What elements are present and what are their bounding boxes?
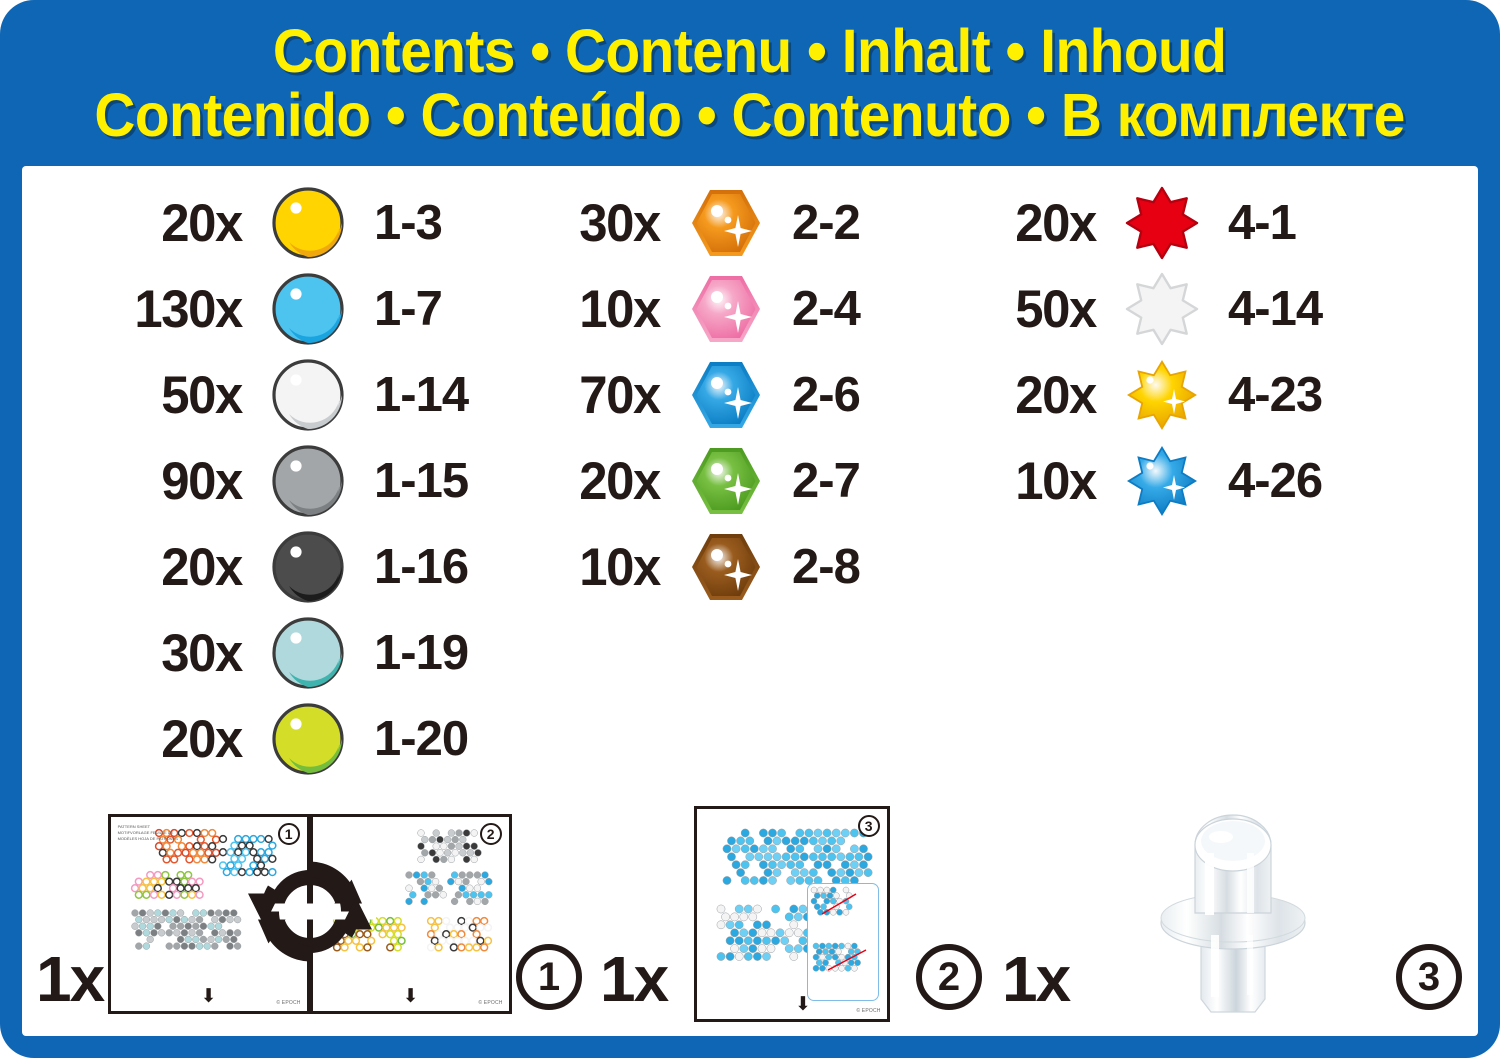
bead-row: 50x 1-14 bbox=[114, 352, 502, 438]
accessory-index-badge: 3 bbox=[1396, 944, 1462, 1010]
accessory-index-badge: 2 bbox=[916, 944, 982, 1010]
pattern-sheet-note: PATTERN SHEET MOTIFVORLAGE FEUILLE DE MO… bbox=[118, 824, 182, 842]
copyright-text: © EPOCH bbox=[478, 1000, 502, 1006]
contents-panel: 20x 1-3130x bbox=[22, 166, 1478, 1036]
accessories-row: 1x PATTERN SHEET MOTIFVORLAGE FEUILLE DE… bbox=[22, 798, 1478, 1030]
bead-code: 2-4 bbox=[768, 281, 860, 337]
accessory-index-badge: 1 bbox=[516, 944, 582, 1010]
bead-code: 1-7 bbox=[350, 281, 442, 337]
bead-row: 20x 2-7 bbox=[532, 438, 952, 524]
bead-quantity: 20x bbox=[117, 537, 263, 598]
bead-quantity: 130x bbox=[117, 279, 263, 340]
hexagon-bead-icon bbox=[684, 525, 768, 609]
bead-code: 2-2 bbox=[768, 195, 860, 251]
accessory-figure: PATTERN SHEET MOTIFVORLAGE FEUILLE DE MO… bbox=[103, 814, 516, 1014]
accessory-figure: 3 ⬇ © EPOCH bbox=[667, 806, 916, 1022]
pattern-sheet-badge-3: 3 bbox=[858, 815, 880, 837]
bead-code: 1-14 bbox=[350, 367, 468, 423]
star-bead-icon bbox=[1120, 267, 1204, 351]
pattern-sheet-badge-2: 2 bbox=[480, 823, 502, 845]
accessory-quantity: 1x bbox=[1002, 942, 1069, 1030]
hexagon-bead-icon bbox=[684, 181, 768, 265]
header-title-line-2: Contenido • Conteúdo • Contenuto • В ком… bbox=[95, 84, 1406, 146]
bead-row: 10x 2-8 bbox=[532, 524, 952, 610]
star-bead-icon bbox=[1120, 439, 1204, 523]
bead-quantity: 70x bbox=[535, 365, 681, 426]
bead-column-star: 20x 4-150x 4-1420x 4-2310x 4-26 bbox=[952, 180, 1452, 782]
circle-bead-icon bbox=[266, 525, 350, 609]
bead-row: 90x 1-15 bbox=[114, 438, 502, 524]
circle-bead-icon bbox=[266, 353, 350, 437]
bead-quantity: 50x bbox=[117, 365, 263, 426]
bead-row: 20x 4-23 bbox=[968, 352, 1452, 438]
bead-quantity: 50x bbox=[971, 279, 1117, 340]
bead-row: 10x 2-4 bbox=[532, 266, 952, 352]
clear-pen-tool-icon bbox=[1143, 807, 1323, 1022]
bead-quantity: 20x bbox=[971, 193, 1117, 254]
bead-code: 4-14 bbox=[1204, 281, 1322, 337]
circle-bead-icon bbox=[266, 611, 350, 695]
down-arrow-icon: ⬇ bbox=[795, 995, 811, 1014]
bead-quantity: 90x bbox=[117, 451, 263, 512]
bead-column-round: 20x 1-3130x bbox=[22, 180, 502, 782]
bead-code: 1-20 bbox=[350, 711, 468, 767]
bead-code: 4-23 bbox=[1204, 367, 1322, 423]
bead-quantity: 10x bbox=[535, 279, 681, 340]
bead-row: 30x 1-19 bbox=[114, 610, 502, 696]
bead-row: 70x 2-6 bbox=[532, 352, 952, 438]
bead-quantity: 10x bbox=[971, 451, 1117, 512]
bead-code: 1-15 bbox=[350, 453, 468, 509]
accessory-quantity: 1x bbox=[600, 942, 667, 1030]
accessory-pattern-sheet-double: 1x PATTERN SHEET MOTIFVORLAGE FEUILLE DE… bbox=[22, 798, 582, 1030]
bead-code: 2-8 bbox=[768, 539, 860, 595]
bead-code: 2-7 bbox=[768, 453, 860, 509]
copyright-text: © EPOCH bbox=[856, 1008, 880, 1014]
header-title-line-1: Contents • Contenu • Inhalt • Inhoud bbox=[273, 20, 1227, 82]
bead-code: 1-16 bbox=[350, 539, 468, 595]
bead-quantity: 20x bbox=[117, 193, 263, 254]
accessory-quantity: 1x bbox=[36, 942, 103, 1030]
header-banner: Contents • Contenu • Inhalt • Inhoud Con… bbox=[0, 0, 1500, 166]
down-arrow-icon: ⬇ bbox=[403, 987, 419, 1006]
hexagon-bead-icon bbox=[684, 353, 768, 437]
accessory-bead-pen: 1x bbox=[982, 798, 1462, 1030]
copyright-text: © EPOCH bbox=[276, 1000, 300, 1006]
circle-bead-icon bbox=[266, 181, 350, 265]
circle-bead-icon bbox=[266, 697, 350, 781]
bead-code: 4-1 bbox=[1204, 195, 1296, 251]
bead-code: 1-3 bbox=[350, 195, 442, 251]
bead-code: 4-26 bbox=[1204, 453, 1322, 509]
pattern-sheet-page-3: 3 ⬇ © EPOCH bbox=[694, 806, 890, 1022]
assembly-inset-diagram bbox=[807, 883, 879, 1001]
bead-column-hexagon: 30x 2-210x bbox=[502, 180, 952, 782]
bead-row: 30x 2-2 bbox=[532, 180, 952, 266]
bead-quantity: 10x bbox=[535, 537, 681, 598]
hexagon-bead-icon bbox=[684, 439, 768, 523]
bead-code: 1-19 bbox=[350, 625, 468, 681]
dolphin-assembly-art bbox=[808, 884, 878, 1000]
circle-bead-icon bbox=[266, 267, 350, 351]
pattern-sheet-badge-1: 1 bbox=[278, 823, 300, 845]
circle-bead-icon bbox=[266, 439, 350, 523]
down-arrow-icon: ⬇ bbox=[201, 987, 217, 1006]
hexagon-bead-icon bbox=[684, 267, 768, 351]
flip-over-arrow-icon bbox=[244, 846, 376, 983]
bead-row: 20x 4-1 bbox=[968, 180, 1452, 266]
bead-row: 130x 1-7 bbox=[114, 266, 502, 352]
bead-quantity: 20x bbox=[535, 451, 681, 512]
bead-row: 50x 4-14 bbox=[968, 266, 1452, 352]
bead-quantity: 30x bbox=[535, 193, 681, 254]
bead-code: 2-6 bbox=[768, 367, 860, 423]
bead-row: 20x 1-20 bbox=[114, 696, 502, 782]
bead-row: 10x 4-26 bbox=[968, 438, 1452, 524]
package-contents-panel: Contents • Contenu • Inhalt • Inhoud Con… bbox=[0, 0, 1500, 1058]
bead-row: 20x 1-16 bbox=[114, 524, 502, 610]
bead-quantity: 20x bbox=[117, 709, 263, 770]
bead-quantity: 30x bbox=[117, 623, 263, 684]
bead-columns: 20x 1-3130x bbox=[22, 180, 1478, 782]
bead-quantity: 20x bbox=[971, 365, 1117, 426]
star-bead-icon bbox=[1120, 353, 1204, 437]
bead-row: 20x 1-3 bbox=[114, 180, 502, 266]
accessory-pattern-sheet-dolphin: 1x 3 ⬇ bbox=[582, 798, 982, 1030]
accessory-figure bbox=[1069, 807, 1396, 1022]
star-bead-icon bbox=[1120, 181, 1204, 265]
